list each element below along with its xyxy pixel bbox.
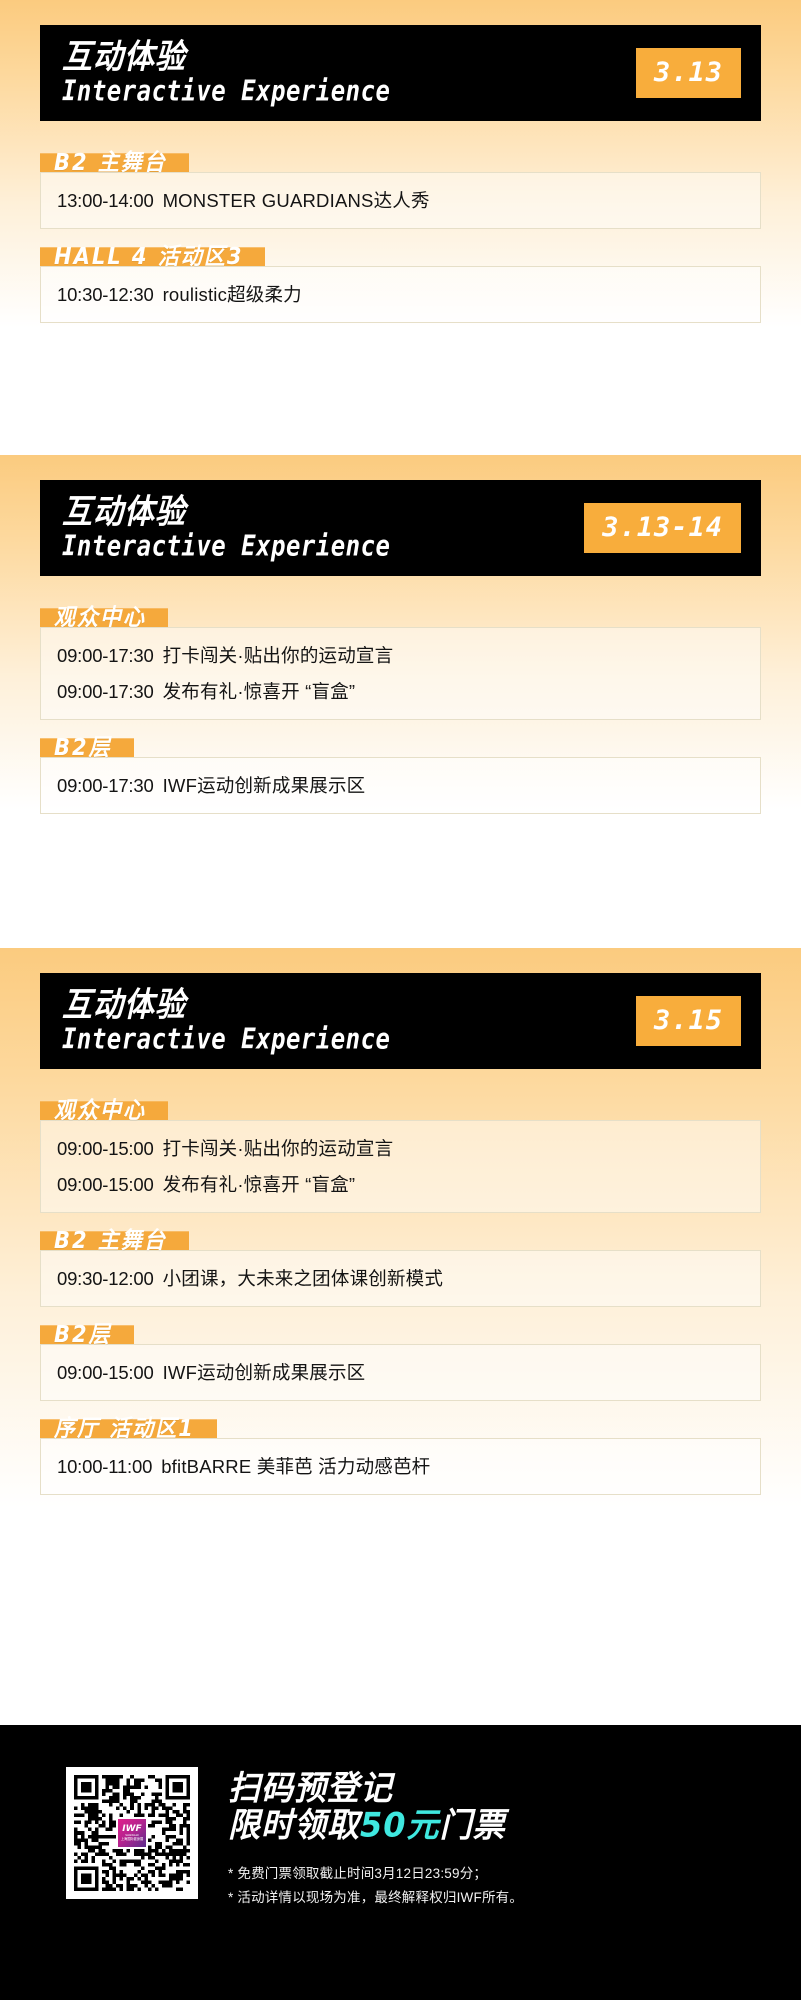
day-section-2: 互动体验 Interactive Experience 3.13-14 观众中心… [0, 455, 801, 948]
schedule-rows: 09:00-15:00IWF运动创新成果展示区 [40, 1344, 761, 1401]
venue-group: 观众中心 09:00-15:00打卡闯关·贴出你的运动宣言 09:00-15:0… [40, 1103, 761, 1213]
schedule-row: 09:00-15:00发布有礼·惊喜开 “盲盒” [41, 1166, 760, 1202]
row-time: 09:00-17:30 [57, 645, 154, 666]
row-time: 09:00-17:30 [57, 775, 154, 796]
row-name: roulistic超级柔力 [163, 284, 302, 305]
iwf-logo-text: IWF [122, 1825, 141, 1834]
venue-tag: 观众中心 [40, 1101, 168, 1120]
section-title-cn: 互动体验 [62, 989, 404, 1023]
schedule-row: 13:00-14:00MONSTER GUARDIANS达人秀 [41, 182, 760, 218]
iwf-logo-sub-cn: 上海国际健身展 [121, 1837, 143, 1841]
row-time: 09:00-15:00 [57, 1138, 154, 1159]
row-time: 09:00-15:00 [57, 1362, 154, 1383]
section-title-bar: 互动体验 Interactive Experience 3.13 [40, 25, 761, 121]
row-time: 13:00-14:00 [57, 190, 154, 211]
section-title-cn: 互动体验 [62, 496, 404, 530]
poster-root: 互动体验 Interactive Experience 3.13 B2 主舞台 … [0, 0, 801, 2000]
row-time: 10:00-11:00 [57, 1456, 152, 1477]
footer-note: * 免费门票领取截止时间3月12日23:59分； [228, 1862, 523, 1886]
section-title-cn: 互动体验 [62, 41, 404, 75]
venue-group: HALL 4 活动区3 10:30-12:30roulistic超级柔力 [40, 249, 761, 323]
venue-tag: HALL 4 活动区3 [40, 247, 265, 266]
schedule-row: 10:00-11:00bfitBARRE 美菲芭 活力动感芭杆 [41, 1448, 760, 1484]
venue-tag: B2 主舞台 [40, 153, 189, 172]
section-date-badge: 3.13 [636, 48, 741, 98]
section-date-badge: 3.13-14 [584, 503, 741, 553]
schedule-rows: 13:00-14:00MONSTER GUARDIANS达人秀 [40, 172, 761, 229]
row-name: 小团课，大未来之团体课创新模式 [163, 1268, 444, 1289]
venue-tag: B2层 [40, 1325, 134, 1344]
section-title-bar: 互动体验 Interactive Experience 3.15 [40, 973, 761, 1069]
section-date-badge: 3.15 [636, 996, 741, 1046]
row-name: 发布有礼·惊喜开 “盲盒” [163, 681, 356, 702]
day-section-3: 互动体验 Interactive Experience 3.15 观众中心 09… [0, 948, 801, 1725]
row-name: 打卡闯关·贴出你的运动宣言 [163, 645, 394, 666]
footer-note: * 活动详情以现场为准，最终解释权归IWF所有。 [228, 1886, 523, 1910]
cta-post: 门票 [440, 1805, 506, 1845]
row-name: 发布有礼·惊喜开 “盲盒” [163, 1174, 356, 1195]
venue-group: B2 主舞台 13:00-14:00MONSTER GUARDIANS达人秀 [40, 155, 761, 229]
venue-tag: 观众中心 [40, 608, 168, 627]
venue-tag: B2层 [40, 738, 134, 757]
schedule-row: 09:00-17:30打卡闯关·贴出你的运动宣言 [41, 637, 760, 673]
section-title-bar: 互动体验 Interactive Experience 3.13-14 [40, 480, 761, 576]
section-title-en: Interactive Experience [62, 76, 390, 105]
schedule-rows: 09:00-17:30打卡闯关·贴出你的运动宣言 09:00-17:30发布有礼… [40, 627, 761, 720]
day-section-1: 互动体验 Interactive Experience 3.13 B2 主舞台 … [0, 0, 801, 455]
schedule-row: 09:00-15:00打卡闯关·贴出你的运动宣言 [41, 1130, 760, 1166]
schedule-row: 09:30-12:00小团课，大未来之团体课创新模式 [41, 1260, 760, 1296]
venue-group: B2 主舞台 09:30-12:00小团课，大未来之团体课创新模式 [40, 1233, 761, 1307]
venue-group: 观众中心 09:00-17:30打卡闯关·贴出你的运动宣言 09:00-17:3… [40, 610, 761, 720]
venue-group: 序厅 活动区1 10:00-11:00bfitBARRE 美菲芭 活力动感芭杆 [40, 1421, 761, 1495]
schedule-row: 09:00-15:00IWF运动创新成果展示区 [41, 1354, 760, 1390]
row-time: 09:00-15:00 [57, 1174, 154, 1195]
schedule-rows: 10:00-11:00bfitBARRE 美菲芭 活力动感芭杆 [40, 1438, 761, 1495]
cta-pre: 限时领取 [228, 1805, 360, 1845]
row-name: IWF运动创新成果展示区 [163, 1362, 366, 1383]
venue-group: B2层 09:00-17:30IWF运动创新成果展示区 [40, 740, 761, 814]
section-title-en: Interactive Experience [62, 1024, 390, 1053]
row-time: 10:30-12:30 [57, 284, 154, 305]
venue-tag: 序厅 活动区1 [40, 1419, 217, 1438]
row-name: IWF运动创新成果展示区 [163, 775, 366, 796]
schedule-rows: 09:30-12:00小团课，大未来之团体课创新模式 [40, 1250, 761, 1307]
section-title-en: Interactive Experience [62, 531, 390, 560]
iwf-logo-icon: IWF SHANGHAI 上海国际健身展 [117, 1818, 147, 1848]
schedule-rows: 10:30-12:30roulistic超级柔力 [40, 266, 761, 323]
schedule-row: 10:30-12:30roulistic超级柔力 [41, 276, 760, 312]
cta-subheadline: 限时领取50元门票 [228, 1807, 523, 1843]
row-time: 09:30-12:00 [57, 1268, 154, 1289]
cta-price-highlight: 50元 [360, 1805, 440, 1845]
schedule-row: 09:00-17:30发布有礼·惊喜开 “盲盒” [41, 673, 760, 709]
cta-headline: 扫码预登记 [228, 1770, 523, 1806]
venue-group: B2层 09:00-15:00IWF运动创新成果展示区 [40, 1327, 761, 1401]
schedule-rows: 09:00-15:00打卡闯关·贴出你的运动宣言 09:00-15:00发布有礼… [40, 1120, 761, 1213]
qr-code[interactable]: IWF SHANGHAI 上海国际健身展 [66, 1767, 198, 1899]
schedule-rows: 09:00-17:30IWF运动创新成果展示区 [40, 757, 761, 814]
schedule-row: 09:00-17:30IWF运动创新成果展示区 [41, 767, 760, 803]
row-name: bfitBARRE 美菲芭 活力动感芭杆 [161, 1456, 430, 1477]
row-name: MONSTER GUARDIANS达人秀 [163, 190, 430, 211]
row-name: 打卡闯关·贴出你的运动宣言 [163, 1138, 394, 1159]
row-time: 09:00-17:30 [57, 681, 154, 702]
footer-notes: * 免费门票领取截止时间3月12日23:59分； * 活动详情以现场为准，最终解… [228, 1862, 523, 1909]
footer-cta-bar: IWF SHANGHAI 上海国际健身展 扫码预登记 限时领取50元门票 * 免… [0, 1725, 801, 2000]
venue-tag: B2 主舞台 [40, 1231, 189, 1250]
